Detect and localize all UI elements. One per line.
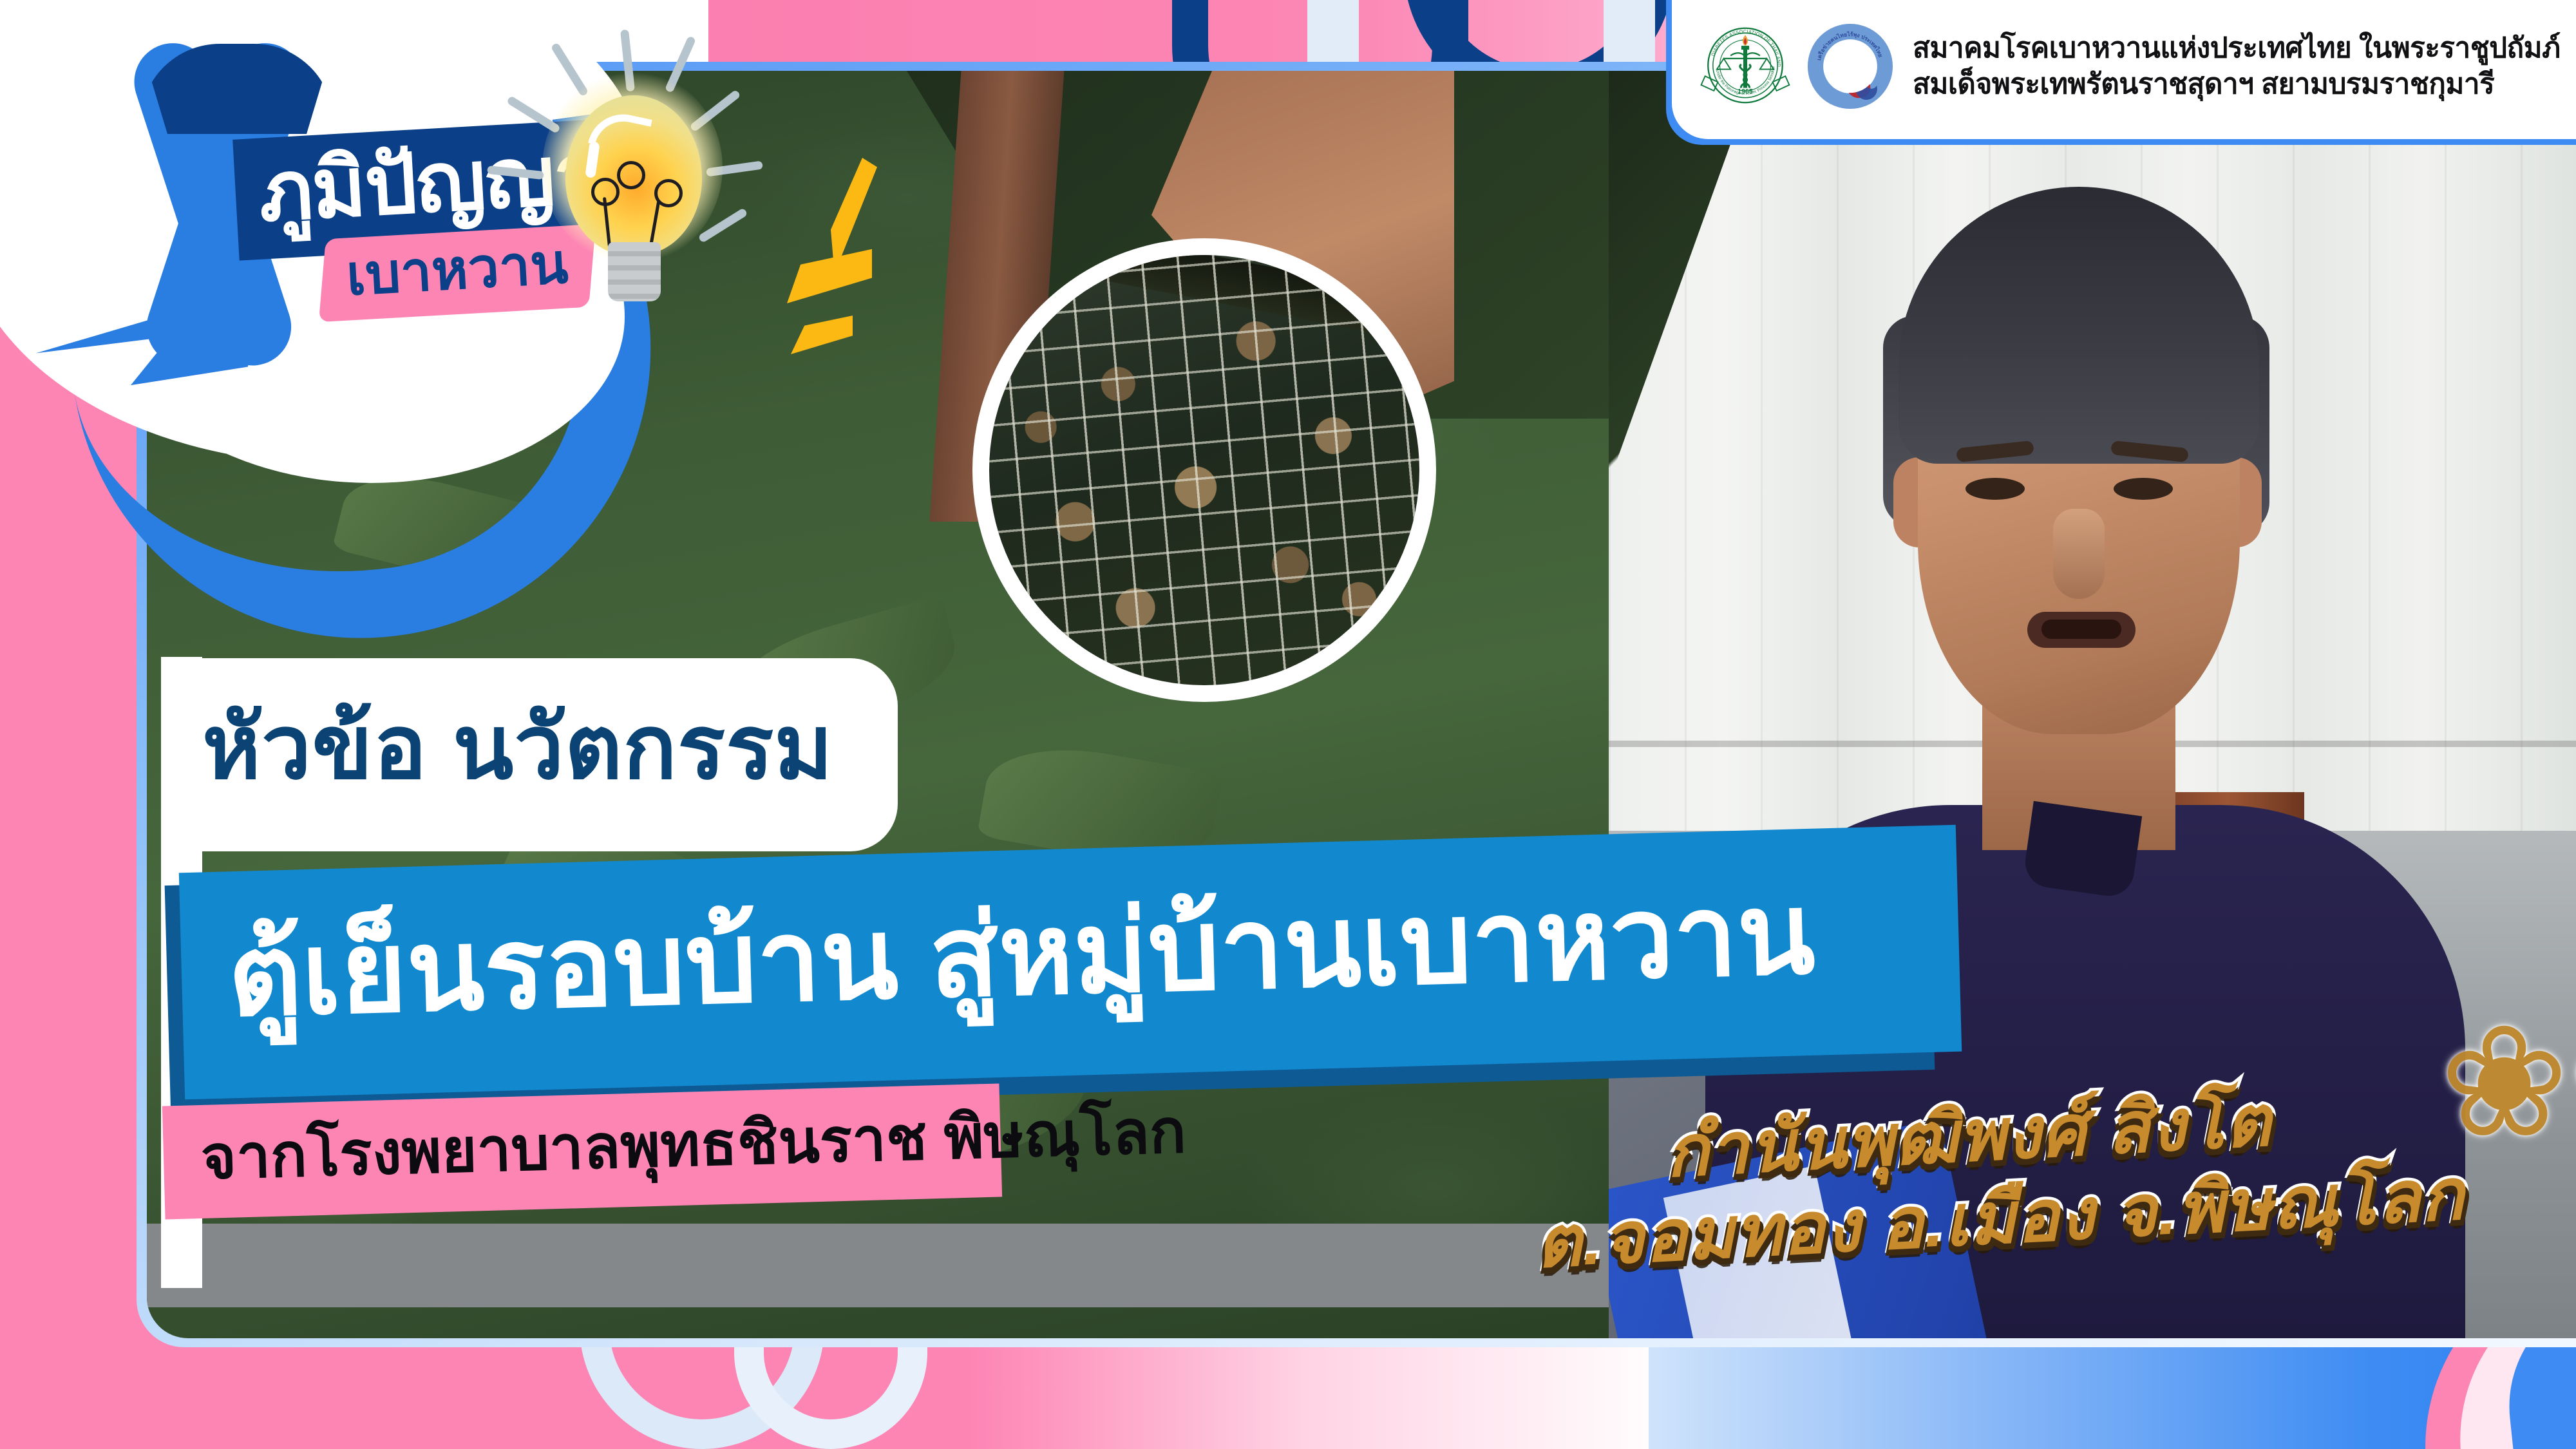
gray-shelf: [147, 1224, 1609, 1307]
mouth-inner: [2041, 620, 2121, 639]
lightbulb-icon: [504, 26, 761, 309]
eye-right: [2114, 478, 2173, 500]
headline-text: ตู้เย็นรอบบ้าน สู่หมู่บ้านเบาหวาน: [227, 877, 1817, 1050]
association-name: สมาคมโรคเบาหวานแห่งประเทศไทย ในพระราชูปถ…: [1913, 32, 2561, 101]
circle-photo-inset: [972, 238, 1436, 702]
frogs-in-mesh-photo: [989, 255, 1419, 685]
filament-loop: [617, 161, 645, 189]
eye-left: [1965, 478, 2025, 500]
diabetes-association-seal-icon: 1965 DIABETES ASSOCIATION OF THAILAND Un…: [1696, 17, 1794, 115]
association-banner: 1965 DIABETES ASSOCIATION OF THAILAND Un…: [1672, 0, 2576, 139]
topic-pill: หัวข้อ นวัตกรรม: [161, 658, 898, 851]
headline-banner: ตู้เย็นรอบบ้าน สู่หมู่บ้านเบาหวาน: [179, 825, 1962, 1100]
association-line-1: สมาคมโรคเบาหวานแห่งประเทศไทย ในพระราชูปถ…: [1913, 32, 2561, 65]
program-logo-badge: ภูมิปัญญา เบาหวาน: [0, 0, 753, 399]
source-band: จากโรงพยาบาลพุทธชินราช พิษณุโลก: [162, 1083, 1002, 1219]
bulb-screw-base: [608, 242, 661, 301]
collar: [2022, 801, 2142, 899]
topic-label: หัวข้อ นวัตกรรม: [202, 703, 833, 806]
nose: [2053, 509, 2105, 599]
mesh-net-overlay: [989, 255, 1419, 685]
poster-canvas: ❀❀ ภูมิปัญญา เบาหวาน: [0, 0, 2576, 1449]
bulb-filament: [589, 161, 692, 245]
association-line-2: สมเด็จพระเทพรัตนราชสุดาฯ สยามบรมราชกุมาร…: [1913, 68, 2561, 101]
hair: [1899, 187, 2259, 464]
diabetes-network-ring-icon: เครือข่ายคนไทยไร้พุง ประเทศไทย: [1804, 21, 1896, 112]
filament-wire: [649, 200, 660, 249]
